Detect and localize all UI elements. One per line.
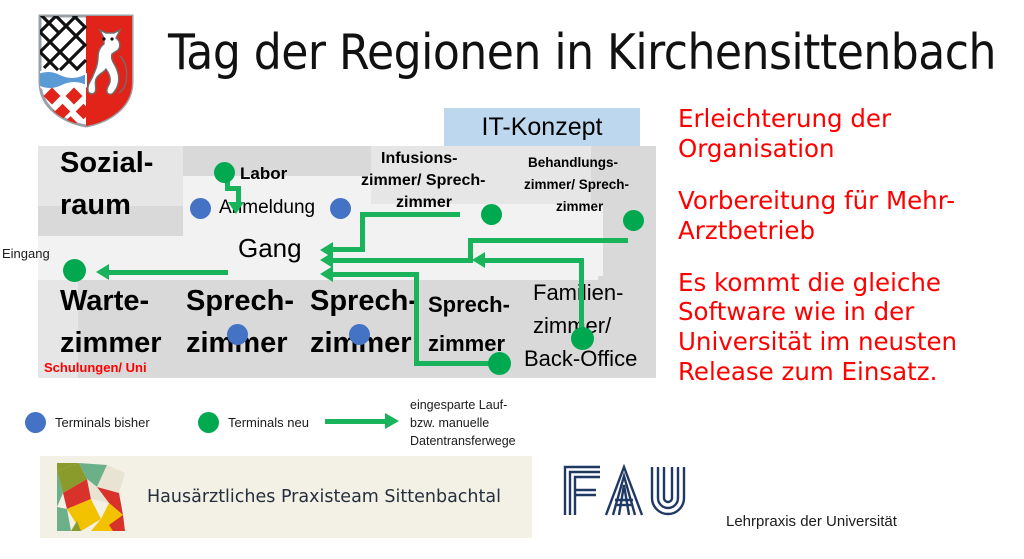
terminal-old-sprech1: [227, 324, 248, 345]
route-familien-seg2: [483, 258, 584, 263]
it-konzept-tag: IT-Konzept: [444, 108, 640, 146]
legend-saved-paths-line2: bzw. manuelle: [410, 414, 575, 432]
room-label-infusion-line2: zimmer/ Sprech-: [361, 172, 485, 189]
room-label-behandlung-line3: zimmer: [556, 200, 603, 215]
praxis-banner: Hausärztliches Praxisteam Sittenbachtal: [40, 456, 532, 538]
terminal-new-sprech3: [488, 352, 511, 375]
room-label-sprech2-line1: Sprech-: [310, 286, 418, 317]
legend-blue-dot-icon: [25, 412, 46, 433]
terminal-old-sprech2: [349, 324, 370, 345]
route-eingang-seg1: [108, 270, 228, 275]
route-sprech3-arrowhead: [320, 266, 333, 282]
room-label-infusion-line3: zimmer: [396, 194, 452, 211]
legend-label-terminals-old: Terminals bisher: [55, 415, 150, 430]
route-sprech3-seg3: [332, 272, 419, 277]
terminal-new-familien: [571, 327, 594, 350]
legend-item-terminals-old: Terminals bisher: [25, 412, 150, 433]
coat-of-arms-crest: [34, 12, 138, 130]
route-labor-arrowhead: [228, 202, 244, 214]
terminal-old-anmeldung-left: [190, 198, 211, 219]
room-label-labor: Labor: [240, 165, 287, 183]
benefit-note-1: Erleichterung der Organisation: [678, 104, 1018, 164]
training-label: Schulungen/ Uni: [44, 360, 147, 375]
route-behandlung-seg3: [332, 258, 473, 263]
room-label-warte-line1: Warte-: [60, 286, 149, 317]
route-familien-seg1: [579, 258, 584, 334]
room-label-infusion-line1: Infusions-: [381, 150, 457, 167]
route-infusion-seg1: [360, 212, 460, 217]
route-sprech3-seg2: [414, 272, 419, 366]
route-infusion-seg2: [360, 212, 365, 252]
fau-logo-icon: [560, 462, 708, 520]
terminal-new-behandlung: [623, 210, 644, 231]
room-label-gang: Gang: [238, 234, 302, 262]
room-label-behandlung-line2: zimmer/ Sprech-: [524, 178, 629, 193]
page-title: Tag der Regionen in Kirchensittenbach: [168, 24, 1024, 81]
praxis-name-label: Hausärztliches Praxisteam Sittenbachtal: [147, 487, 501, 507]
room-label-sozialraum-line1: Sozial-: [60, 148, 153, 179]
terminal-new-labor: [214, 162, 235, 183]
terminal-old-anmeldung-right: [330, 198, 351, 219]
route-familien-arrowhead: [472, 252, 485, 268]
benefit-notes-list: Erleichterung der Organisation Vorbereit…: [678, 104, 1018, 409]
legend-label-terminals-new: Terminals neu: [228, 415, 309, 430]
entrance-label: Eingang: [2, 246, 50, 261]
room-label-sprech1-line1: Sprech-: [186, 286, 294, 317]
legend-saved-paths-line3: Datentransferwege: [410, 432, 575, 450]
room-label-sozialraum-line2: raum: [60, 190, 131, 221]
route-behandlung-seg1: [468, 238, 628, 243]
legend-green-dot-icon: [198, 412, 219, 433]
room-label-familien-line3: Back-Office: [524, 347, 637, 371]
terminal-new-infusion: [481, 204, 502, 225]
room-label-behandlung-line1: Behandlungs-: [528, 156, 618, 171]
legend-saved-paths-caption: eingesparte Lauf- bzw. manuelle Datentra…: [410, 396, 575, 450]
benefit-note-3: Es kommt die gleiche Software wie in der…: [678, 268, 1018, 388]
route-infusion-seg3: [332, 247, 365, 252]
room-label-sprech3-line1: Sprech-: [428, 293, 510, 317]
route-sprech3-seg1: [414, 361, 494, 366]
legend-item-terminals-new: Terminals neu: [198, 412, 309, 433]
legend-arrow-icon-line: [325, 419, 387, 424]
legend-arrow-icon-head: [385, 413, 399, 429]
room-label-warte-line2: zimmer: [60, 328, 162, 359]
it-konzept-label: IT-Konzept: [482, 113, 603, 142]
fau-caption-label: Lehrpraxis der Universität: [726, 513, 897, 530]
terminal-new-eingang: [63, 259, 86, 282]
floorplan-diagram: Sozial- raum Labor Anmeldung Gang Infusi…: [38, 146, 656, 378]
legend-saved-paths-line1: eingesparte Lauf-: [410, 396, 575, 414]
route-eingang-arrowhead: [96, 264, 109, 280]
benefit-note-2: Vorbereitung für Mehr-Arztbetrieb: [678, 186, 1018, 246]
praxis-mosaic-logo-icon: [57, 463, 125, 531]
